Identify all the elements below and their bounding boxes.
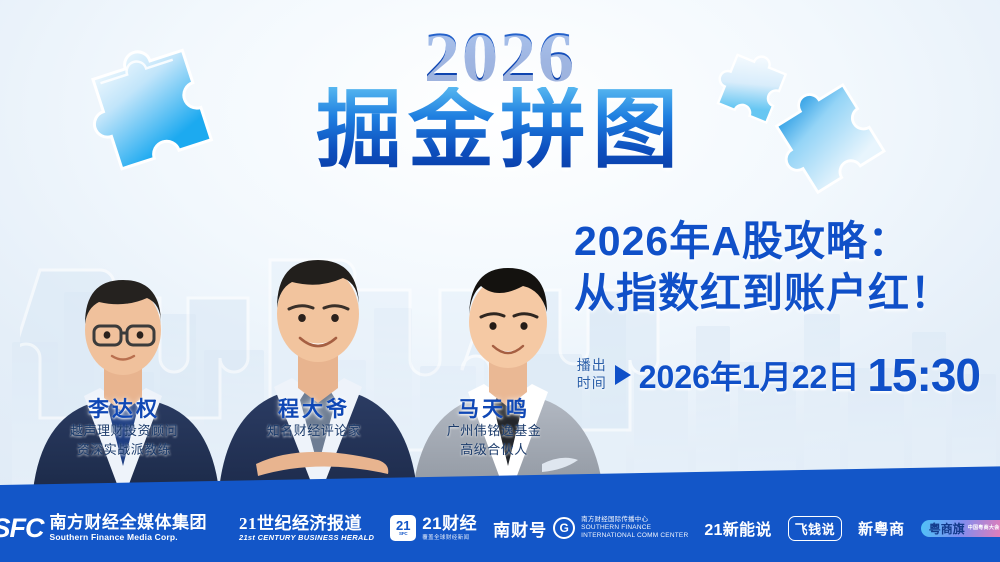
speaker-role-2-line1: 知名财经评论家 bbox=[214, 422, 414, 440]
speaker-role-1-line1: 越声理财投资顾问 bbox=[24, 422, 224, 440]
nancaihao-cn: 南财号 bbox=[493, 516, 547, 541]
broadcast-time-row: 播出 时间 2026年1月22日 15:30 bbox=[577, 348, 980, 402]
nancaihao-sub-3: INTERNATIONAL COMM CENTER bbox=[581, 532, 688, 540]
broadcast-time: 15:30 bbox=[867, 348, 980, 402]
speaker-name-block-2: 程大爷 知名财经评论家 bbox=[214, 398, 414, 441]
flag-logo-icon: 粤商旗 中国粤商大会 bbox=[921, 520, 1000, 537]
xinyueshang-cn: 新粤商 bbox=[858, 518, 905, 539]
badge-21-sub: SFC bbox=[399, 532, 407, 537]
cj21-sub: 覆盖全球财经新闻 bbox=[422, 533, 477, 541]
poster-canvas: 2026 掘金拼图 bbox=[0, 0, 1000, 562]
speaker-name-blocks: 李达权 越声理财投资顾问 资深实战派教练 程大爷 知名财经评论家 马天鸣 广州伟… bbox=[0, 398, 620, 480]
logo-herald: 21世纪经济报道 21st CENTURY BUSINESS HERALD bbox=[239, 514, 374, 542]
broadcast-date: 2026年1月22日 bbox=[639, 352, 860, 398]
herald-cn: 21世纪经济报道 bbox=[239, 514, 374, 533]
flag-logo-sub: 中国粤商大会 bbox=[968, 526, 1000, 531]
cj21-text: 21财经 覆盖全球财经新闻 bbox=[422, 515, 477, 542]
footer-logo-row: SFC 南方财经全媒体集团 Southern Finance Media Cor… bbox=[0, 500, 1000, 562]
speaker-name-3: 马天鸣 bbox=[394, 398, 594, 422]
logo-21cj: 21 SFC 21财经 覆盖全球财经新闻 bbox=[390, 515, 477, 542]
sfc-text: 南方财经全媒体集团 Southern Finance Media Corp. bbox=[49, 514, 207, 543]
cj21-cn: 21财经 bbox=[422, 515, 477, 534]
speaker-role-3-line1: 广州伟铭逸基金 bbox=[394, 422, 594, 440]
title-block: 2026 掘金拼图 bbox=[0, 22, 1000, 174]
nancaihao-sub-2: SOUTHERN FINANCE bbox=[581, 524, 688, 532]
flag-logo-cn: 粤商旗 bbox=[929, 523, 965, 535]
speaker-name-2: 程大爷 bbox=[214, 398, 414, 422]
nancaihao-sub-1: 南方财经国际传播中心 bbox=[581, 516, 688, 524]
sfc-abbr: SFC bbox=[0, 513, 43, 544]
headline-line-2: 从指数红到账户红！ bbox=[574, 268, 982, 320]
logo-xinnengshuo: 21新能说 bbox=[704, 516, 771, 540]
badge-21-icon: 21 SFC bbox=[390, 515, 416, 541]
g-circle-icon: G bbox=[553, 517, 575, 539]
speaker-name-block-1: 李达权 越声理财投资顾问 资深实战派教练 bbox=[24, 398, 224, 459]
logo-xinyueshang: 新粤商 bbox=[858, 518, 905, 539]
sfc-en: Southern Finance Media Corp. bbox=[49, 532, 207, 542]
speaker-role-3-line2: 高级合伙人 bbox=[394, 441, 594, 459]
speaker-name-block-3: 马天鸣 广州伟铭逸基金 高级合伙人 bbox=[394, 398, 594, 459]
headline-line-1: 2026年A股攻略： bbox=[574, 216, 982, 268]
speaker-name-1: 李达权 bbox=[24, 398, 224, 422]
poster-main-title: 掘金拼图 bbox=[0, 87, 1000, 175]
speaker-role-1-line2: 资深实战派教练 bbox=[24, 441, 224, 459]
logo-yueshangqi: 粤商旗 中国粤商大会 bbox=[921, 520, 1000, 537]
play-triangle-icon bbox=[615, 365, 631, 385]
headline-block: 2026年A股攻略： 从指数红到账户红！ bbox=[574, 216, 982, 319]
herald-text: 21世纪经济报道 21st CENTURY BUSINESS HERALD bbox=[239, 514, 374, 542]
broadcast-label-line-1: 播出 bbox=[577, 357, 607, 375]
herald-en: 21st CENTURY BUSINESS HERALD bbox=[239, 533, 374, 542]
logo-sfc: SFC 南方财经全媒体集团 Southern Finance Media Cor… bbox=[0, 513, 207, 544]
logo-feiqianshuo: 飞钱说 bbox=[788, 516, 843, 541]
logo-nancaihao: 南财号 G 南方财经国际传播中心 SOUTHERN FINANCE INTERN… bbox=[493, 516, 688, 541]
nancaihao-sub: 南方财经国际传播中心 SOUTHERN FINANCE INTERNATIONA… bbox=[581, 516, 688, 540]
xinnengshuo-cn: 21新能说 bbox=[704, 516, 771, 540]
broadcast-label: 播出 时间 bbox=[577, 357, 607, 393]
feiqianshuo-cn: 飞钱说 bbox=[788, 516, 843, 541]
sfc-cn: 南方财经全媒体集团 bbox=[49, 514, 207, 533]
broadcast-label-line-2: 时间 bbox=[577, 375, 607, 393]
